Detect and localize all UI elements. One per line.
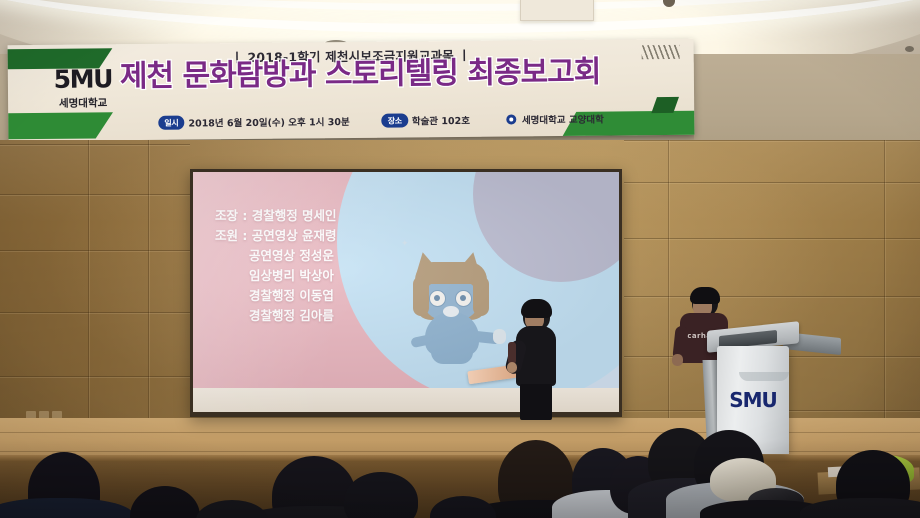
university-seal-icon — [506, 114, 516, 124]
banner-date-value: 2018년 6월 20일(수) 오후 1시 30분 — [188, 114, 349, 130]
event-banner: ㅣ 2018-1학기 제천시보조금지원교과목 ㅣ 5MU 세명대학교 제천 문화… — [8, 39, 695, 142]
banner-date-label: 일시 — [158, 116, 184, 130]
wall-seam — [148, 140, 149, 440]
wall-seam — [0, 250, 190, 251]
wall-seam — [88, 140, 89, 440]
banner-university-logo: 5MU 세명대학교 — [38, 66, 128, 111]
wall-seam — [668, 140, 669, 440]
banner-place-value: 학술관 102호 — [412, 113, 470, 128]
lecture-hall-photo: ㅣ 2018-1학기 제천시보조금지원교과목 ㅣ 5MU 세명대학교 제천 문화… — [0, 0, 920, 518]
smu-korean-name: 세명대학교 — [38, 95, 128, 111]
wall-seam — [0, 194, 190, 195]
banner-location: 장소 학술관 102호 — [382, 113, 470, 128]
ceiling-fixture-icon — [905, 46, 914, 52]
podium-logo: SMU — [717, 388, 789, 412]
lectern-podium: SMU — [705, 326, 800, 456]
banner-organizer-text: 세명대학교 교양대학 — [522, 112, 604, 127]
wall-seam — [884, 140, 885, 440]
wall-seam — [0, 312, 190, 313]
banner-datetime: 일시 2018년 6월 20일(수) 오후 1시 30분 — [158, 114, 350, 130]
presenter-hair — [521, 299, 552, 318]
presenter-hand — [507, 362, 517, 373]
stage-front-panel — [0, 461, 920, 518]
operator-hair — [690, 287, 720, 304]
banner-organizer: 세명대학교 교양대학 — [506, 112, 604, 127]
banner-title: 제천 문화탐방과 스토리텔링 최종보고회 — [120, 57, 676, 92]
presenter-speaker — [506, 300, 562, 418]
ceiling-projector-mount — [520, 0, 594, 21]
presenter-legs — [520, 384, 552, 420]
banner-accent-green — [8, 112, 113, 139]
operator-hand — [672, 354, 683, 366]
wall-seam — [0, 376, 190, 377]
smu-wordmark: 5MU — [38, 66, 128, 92]
microphone-icon — [508, 342, 516, 364]
wall-seam — [0, 144, 190, 145]
banner-place-label: 장소 — [382, 113, 408, 127]
podium-notch — [739, 372, 789, 381]
